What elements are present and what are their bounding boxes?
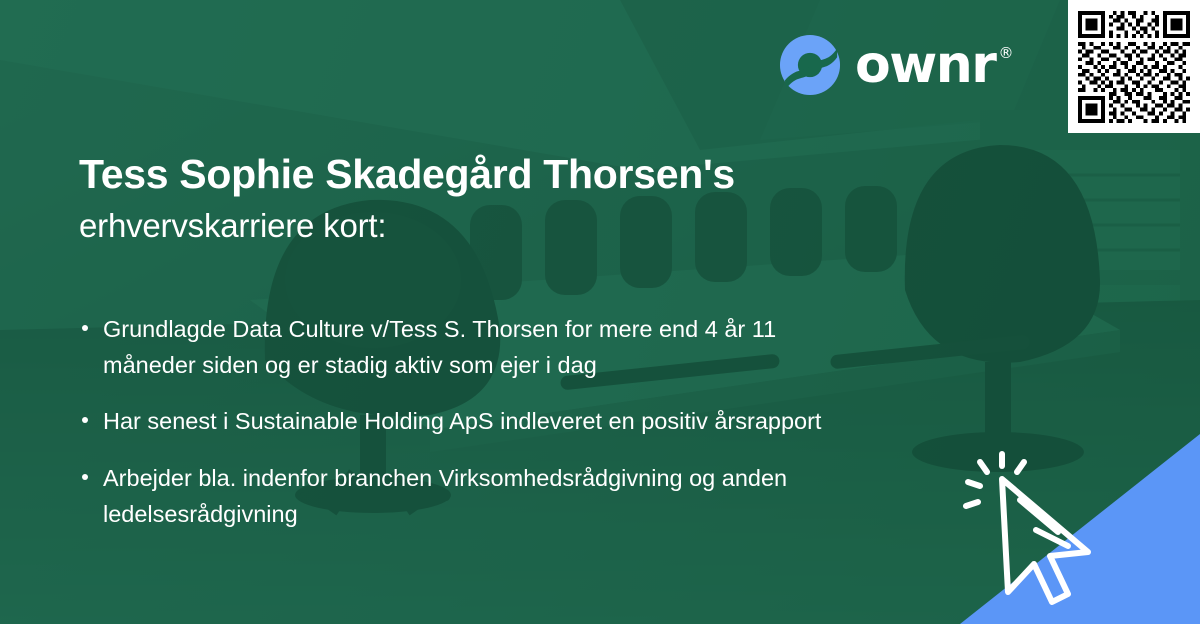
career-fact-list: Grundlagde Data Culture v/Tess S. Thorse…	[79, 312, 869, 533]
bullet-dot-icon	[82, 474, 88, 480]
ownr-logo[interactable]: ownr ®	[779, 32, 1013, 98]
registered-trademark-symbol: ®	[998, 46, 1013, 61]
qr-code-icon	[1078, 11, 1190, 123]
list-item-text: Grundlagde Data Culture v/Tess S. Thorse…	[103, 316, 776, 378]
ownr-wordmark: ownr	[855, 39, 995, 91]
bullet-dot-icon	[82, 325, 88, 331]
bullet-dot-icon	[82, 417, 88, 423]
list-item: Har senest i Sustainable Holding ApS ind…	[79, 404, 869, 440]
business-profile-card: ownr ®	[0, 0, 1200, 624]
list-item: Grundlagde Data Culture v/Tess S. Thorse…	[79, 312, 869, 383]
list-item: Arbejder bla. indenfor branchen Virksomh…	[79, 461, 869, 532]
qr-code[interactable]	[1068, 0, 1200, 133]
ownr-circle-mark-icon	[779, 34, 841, 96]
list-item-text: Har senest i Sustainable Holding ApS ind…	[103, 408, 821, 434]
page-subtitle: erhvervskarriere kort:	[79, 206, 879, 246]
list-item-text: Arbejder bla. indenfor branchen Virksomh…	[103, 465, 787, 527]
page-title: Tess Sophie Skadegård Thorsen's	[79, 150, 879, 198]
headline-block: Tess Sophie Skadegård Thorsen's erhvervs…	[79, 150, 879, 246]
